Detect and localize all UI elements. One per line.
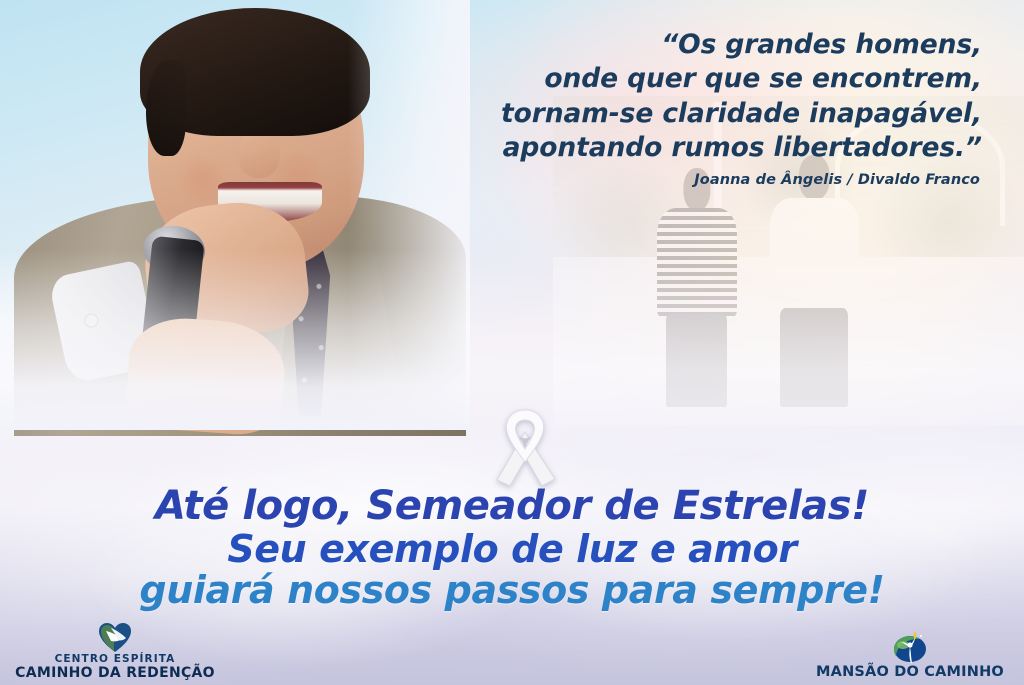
heart-hands-icon bbox=[10, 619, 220, 653]
memorial-poster: “Os grandes homens, onde quer que se enc… bbox=[0, 0, 1024, 685]
logo-left-line-2: CAMINHO DA REDENÇÃO bbox=[10, 665, 220, 681]
logo-right-line-2: MANSÃO DO CAMINHO bbox=[800, 664, 1020, 681]
quote-line-3: tornam-se claridade inapagável, bbox=[422, 97, 982, 131]
white-mourning-ribbon-icon bbox=[486, 406, 564, 488]
logo-centro-espirita: CENTRO ESPÍRITA CAMINHO DA REDENÇÃO bbox=[10, 619, 220, 681]
quote-line-2: onde quer que se encontrem, bbox=[422, 62, 982, 96]
quote-attribution: Joanna de Ângelis / Divaldo Franco bbox=[420, 172, 980, 188]
quote-line-4: apontando rumos libertadores.” bbox=[422, 131, 982, 165]
headline-message: Até logo, Semeador de Estrelas! Seu exem… bbox=[0, 486, 1024, 611]
hair bbox=[140, 8, 370, 136]
logo-left-line-1: CENTRO ESPÍRITA bbox=[10, 653, 220, 665]
quote-line-1: “Os grandes homens, bbox=[422, 28, 982, 62]
globe-figure-icon bbox=[800, 630, 1020, 664]
nose bbox=[238, 130, 280, 178]
headline-line-2: Seu exemplo de luz e amor bbox=[0, 530, 1024, 570]
quote-text: “Os grandes homens, onde quer que se enc… bbox=[422, 28, 982, 166]
portrait-divaldo-franco bbox=[0, 0, 470, 430]
headline-line-1: Até logo, Semeador de Estrelas! bbox=[0, 486, 1024, 528]
logo-mansao-do-caminho: MANSÃO DO CAMINHO bbox=[800, 630, 1020, 681]
headline-line-3: guiará nossos passos para sempre! bbox=[0, 571, 1024, 611]
